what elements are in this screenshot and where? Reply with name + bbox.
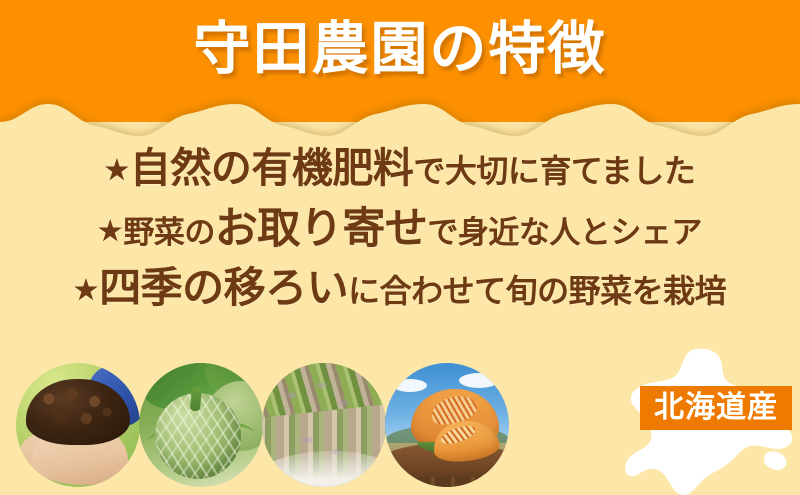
photo-compost-soil-in-hands: [16, 363, 140, 487]
feature-1-rest: で大切に育てました: [413, 155, 695, 187]
hokkaido-badge: 北海道産: [640, 386, 792, 430]
star-icon: ★: [98, 218, 122, 245]
photo-art: [139, 363, 263, 487]
photo-green-melon-on-vine: [139, 363, 263, 487]
photo-cut-orange-melon: [385, 363, 509, 487]
star-icon: ★: [105, 157, 129, 184]
photo-art: [262, 363, 386, 487]
feature-2-emphasis: お取り寄せ: [215, 208, 428, 251]
feature-line-2: ★ 野菜の お取り寄せ で身近な人とシェア: [0, 208, 800, 268]
hokkaido-origin-mark: 北海道産: [618, 348, 800, 495]
photo-art: [385, 363, 509, 487]
feature-line-1: ★ 自然の有機肥料 で大切に育てました: [0, 148, 800, 208]
promo-banner: 守田農園の特徴 ★ 自然の有機肥料 で大切に育てました ★ 野菜の お取り寄せ …: [0, 0, 800, 495]
feature-2-rest: で身近な人とシェア: [427, 217, 702, 248]
feature-3-rest: に合わせて旬の野菜を栽培: [348, 275, 726, 307]
photo-art: [16, 363, 140, 487]
feature-line-3: ★ 四季の移ろい に合わせて旬の野菜を栽培: [0, 268, 800, 328]
feature-list: ★ 自然の有機肥料 で大切に育てました ★ 野菜の お取り寄せ で身近な人とシェ…: [0, 148, 800, 328]
photo-asparagus-bundle: [262, 363, 386, 487]
feature-3-emphasis: 四季の移ろい: [99, 268, 348, 310]
feature-2-prefix: 野菜の: [123, 217, 215, 248]
hokkaido-badge-label: 北海道産: [654, 393, 778, 423]
feature-1-emphasis: 自然の有機肥料: [130, 148, 414, 189]
star-icon: ★: [74, 277, 98, 304]
